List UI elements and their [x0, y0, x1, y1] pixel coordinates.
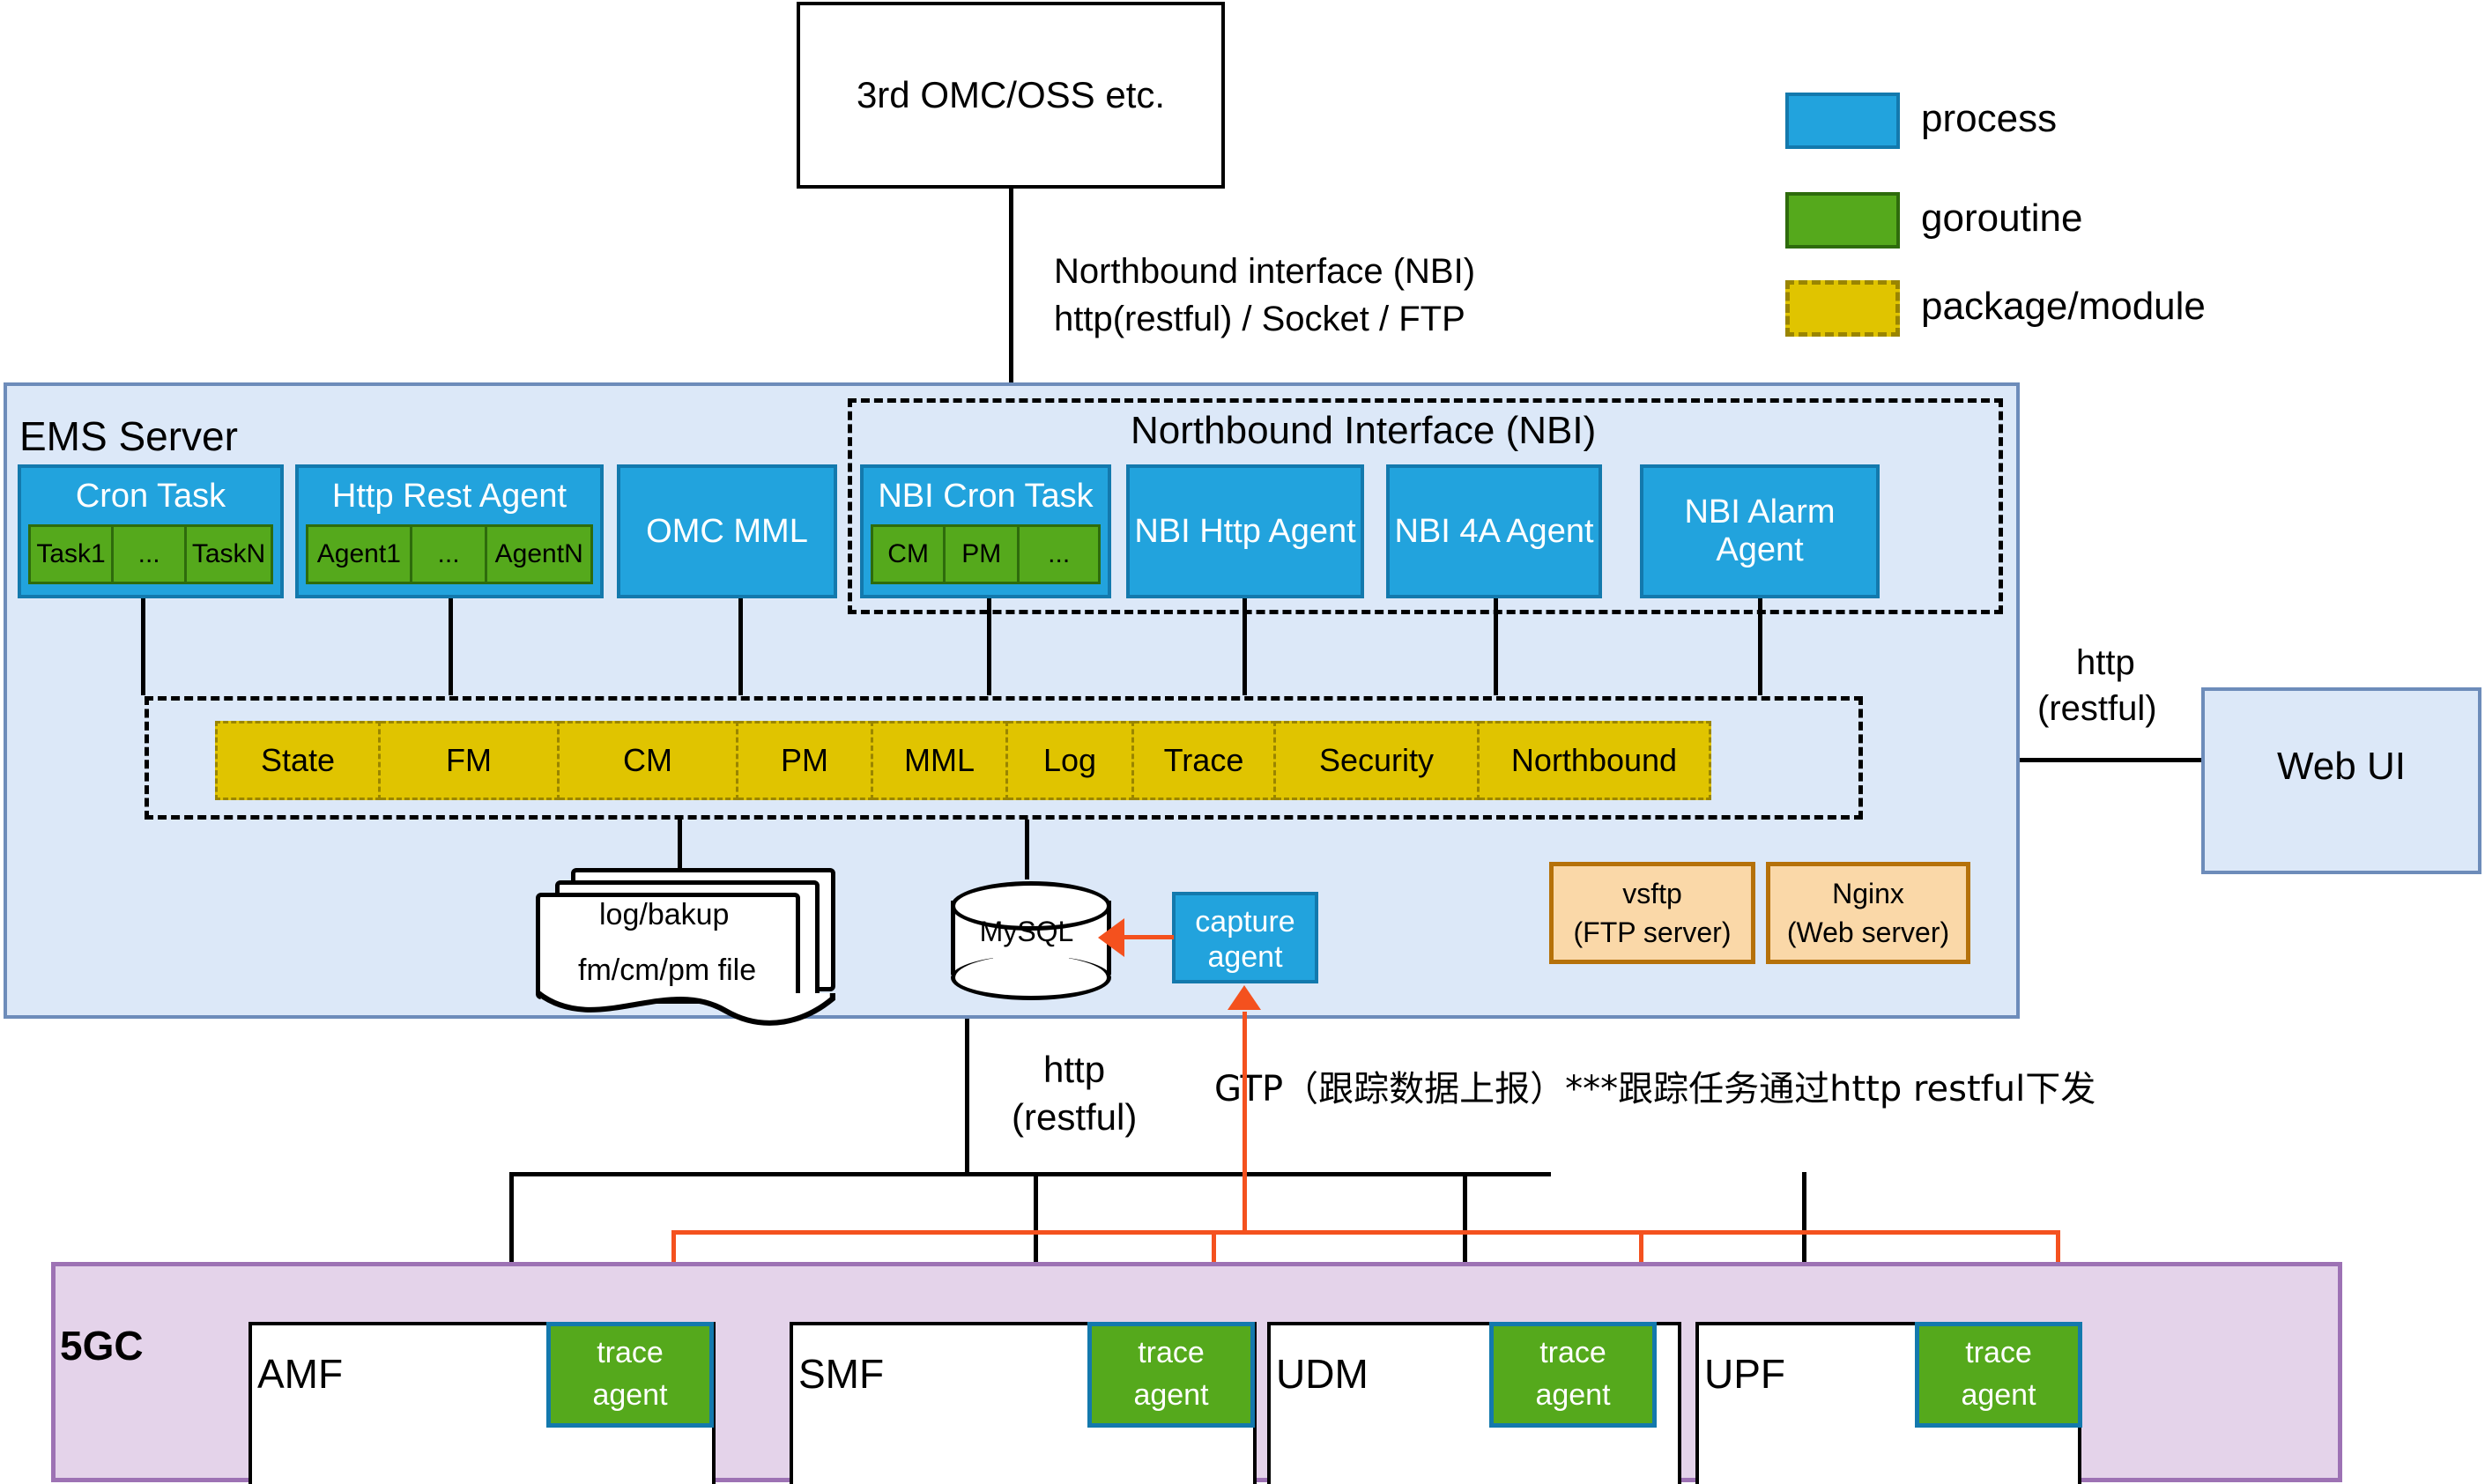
module-log[interactable]: Log: [1008, 721, 1134, 800]
process-nbi-alarm-agent[interactable]: NBI Alarm Agent: [1640, 464, 1880, 598]
goroutine-task1[interactable]: Task1: [28, 524, 114, 584]
module-bar: State FM CM PM MML Log Trace Security No…: [215, 721, 1711, 800]
trace-agent-upf-label-line2: agent: [1919, 1374, 2078, 1416]
legend-process-swatch: [1785, 93, 1900, 149]
module-mml[interactable]: MML: [873, 721, 1008, 800]
nbi-alarm-agent-to-modules-connector: [1758, 598, 1762, 695]
legend-goroutine-label: goroutine: [1921, 197, 2082, 241]
third-party-omc-oss-label: 3rd OMC/OSS etc.: [857, 74, 1165, 115]
process-nbi-http-agent[interactable]: NBI Http Agent: [1126, 464, 1364, 598]
mysql-label: MySQL: [951, 915, 1102, 950]
nbi-4a-agent-to-modules-connector: [1494, 598, 1498, 695]
trace-agent-udm-label-line2: agent: [1494, 1374, 1652, 1416]
trace-agent-smf-label-line2: agent: [1092, 1374, 1250, 1416]
process-nbi-4a-agent-label: NBI 4A Agent: [1394, 513, 1593, 551]
nbi-cron-task-to-modules-connector: [987, 598, 991, 695]
omc-mml-to-modules-connector: [738, 598, 743, 695]
ems-to-5gc-trunk: [965, 1019, 969, 1172]
nf-label-amf: AMF: [257, 1350, 343, 1398]
goroutine-nbi-ellipsis: ...: [1020, 524, 1101, 584]
process-omc-mml-label: OMC MML: [646, 513, 808, 551]
nginx-label-line1: Nginx: [1770, 875, 1966, 914]
file-wave-bottom: [536, 991, 835, 1030]
nf-label-udm: UDM: [1276, 1350, 1369, 1398]
log-module-to-mysql-connector: [1025, 820, 1029, 879]
trace-agent-smf-label-line1: trace: [1092, 1332, 1250, 1374]
web-ui-link-label-line2: (restful): [2037, 689, 2157, 729]
nginx-server-box: Nginx (Web server): [1766, 862, 1970, 964]
goroutine-task-ellipsis: ...: [114, 524, 187, 584]
architecture-diagram: 3rd OMC/OSS etc. Northbound interface (N…: [0, 0, 2485, 1484]
module-pm[interactable]: PM: [738, 721, 873, 800]
ems-to-webui-connector: [2020, 758, 2201, 762]
trace-agent-udm[interactable]: trace agent: [1489, 1322, 1657, 1428]
module-cm[interactable]: CM: [560, 721, 738, 800]
process-cron-task[interactable]: Cron Task Task1 ... TaskN: [18, 464, 284, 598]
cron-task-to-modules-connector: [141, 598, 145, 695]
trace-agent-amf-label-line2: agent: [551, 1374, 709, 1416]
third-party-omc-oss-box: 3rd OMC/OSS etc.: [797, 2, 1225, 189]
vsftp-label-line2: (FTP server): [1554, 914, 1751, 953]
process-nbi-4a-agent[interactable]: NBI 4A Agent: [1386, 464, 1602, 598]
nf-label-upf: UPF: [1704, 1350, 1785, 1398]
goroutine-agent-ellipsis: ...: [412, 524, 488, 584]
process-nbi-alarm-agent-label: NBI Alarm Agent: [1643, 493, 1876, 568]
process-nbi-cron-task-label: NBI Cron Task: [864, 468, 1108, 524]
nbi-link-label-line2: http(restful) / Socket / FTP: [1054, 300, 1465, 339]
trace-agent-udm-label-line1: trace: [1494, 1332, 1652, 1374]
goroutine-agent1[interactable]: Agent1: [306, 524, 412, 584]
vsftp-label-line1: vsftp: [1554, 875, 1751, 914]
trace-trunk-arrowhead: [1228, 985, 1261, 1010]
legend-process-label: process: [1921, 97, 2057, 141]
southbound-http-label-line2: (restful): [1012, 1096, 1137, 1139]
module-security[interactable]: Security: [1276, 721, 1480, 800]
process-cron-task-label: Cron Task: [21, 468, 280, 524]
process-nbi-http-agent-label: NBI Http Agent: [1134, 513, 1355, 551]
trace-agent-upf[interactable]: trace agent: [1915, 1322, 2082, 1428]
nbi-group-title: Northbound Interface (NBI): [1131, 409, 1596, 453]
ems-server-title: EMS Server: [19, 412, 238, 460]
nbi-http-agent-to-modules-connector: [1242, 598, 1247, 695]
legend-goroutine-swatch: [1785, 192, 1900, 249]
trace-agent-upf-label-line1: trace: [1919, 1332, 2078, 1374]
trace-bus: [671, 1230, 2060, 1235]
capture-agent-to-mysql-line: [1124, 935, 1174, 939]
goroutine-nbi-cm[interactable]: CM: [871, 524, 946, 584]
capture-agent-label-line2: agent: [1176, 939, 1315, 975]
web-ui-label: Web UI: [2201, 740, 2481, 793]
legend-module-swatch: [1785, 280, 1900, 337]
trace-agent-amf[interactable]: trace agent: [546, 1322, 714, 1428]
process-http-rest-agent-label: Http Rest Agent: [299, 468, 600, 524]
goroutine-agentn[interactable]: AgentN: [487, 524, 593, 584]
web-ui-link-label-line1: http: [2076, 643, 2135, 683]
nbi-link-label-line1: Northbound interface (NBI): [1054, 252, 1475, 292]
legend-module-label: package/module: [1921, 285, 2206, 329]
vsftp-server-box: vsftp (FTP server): [1549, 862, 1755, 964]
5gc-title: 5GC: [60, 1322, 144, 1369]
module-trace[interactable]: Trace: [1134, 721, 1276, 800]
goroutine-taskn[interactable]: TaskN: [187, 524, 273, 584]
capture-agent-to-mysql-arrowhead: [1098, 918, 1124, 957]
process-capture-agent[interactable]: capture agent: [1172, 892, 1318, 983]
module-northbound[interactable]: Northbound: [1480, 721, 1711, 800]
mysql-cylinder-bottom: [951, 955, 1111, 1000]
log-backup-label-line2: fm/cm/pm file: [578, 953, 756, 988]
trace-trunk-to-capture-agent: [1242, 1012, 1247, 1232]
capture-agent-label-line1: capture: [1176, 904, 1315, 939]
southbound-bus: [509, 1172, 1551, 1176]
nginx-label-line2: (Web server): [1770, 914, 1966, 953]
process-nbi-cron-task[interactable]: NBI Cron Task CM PM ...: [860, 464, 1111, 598]
trace-agent-smf[interactable]: trace agent: [1087, 1322, 1255, 1428]
log-backup-label-line1: log/bakup: [599, 898, 729, 932]
nf-label-smf: SMF: [798, 1350, 884, 1398]
trace-agent-amf-label-line1: trace: [551, 1332, 709, 1374]
module-state[interactable]: State: [215, 721, 381, 800]
gtp-note-label: GTP（跟踪数据上报）***跟踪任务通过http restful下发: [1214, 1060, 2096, 1111]
process-http-rest-agent[interactable]: Http Rest Agent Agent1 ... AgentN: [295, 464, 604, 598]
process-omc-mml[interactable]: OMC MML: [617, 464, 837, 598]
http-rest-agent-to-modules-connector: [449, 598, 453, 695]
module-fm[interactable]: FM: [381, 721, 560, 800]
goroutine-nbi-pm[interactable]: PM: [946, 524, 1020, 584]
southbound-http-label-line1: http: [1043, 1049, 1105, 1091]
